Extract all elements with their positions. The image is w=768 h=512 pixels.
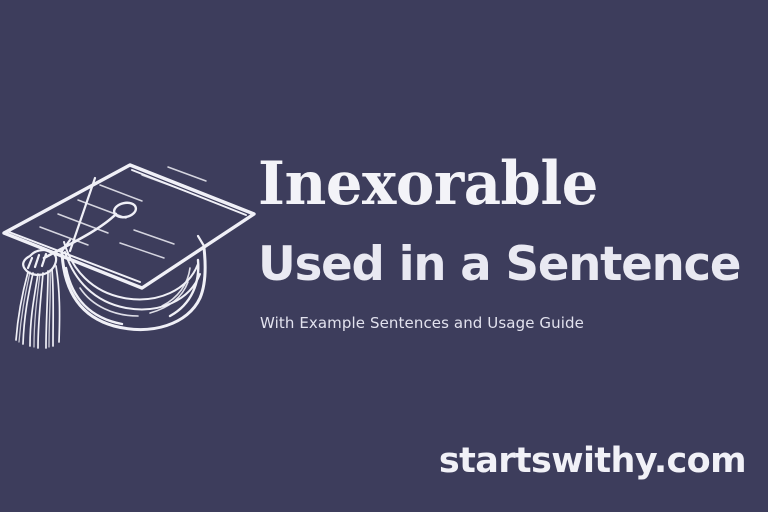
site-brand: startswithy.com: [439, 440, 746, 482]
tagline: With Example Sentences and Usage Guide: [260, 313, 758, 333]
headline-block: Inexorable Used in a Sentence With Examp…: [258, 152, 758, 333]
page-title: Inexorable: [258, 152, 738, 216]
word-banner: Inexorable Used in a Sentence With Examp…: [0, 0, 768, 512]
subtitle: Used in a Sentence: [258, 238, 753, 292]
graduation-cap-icon: [0, 148, 264, 370]
